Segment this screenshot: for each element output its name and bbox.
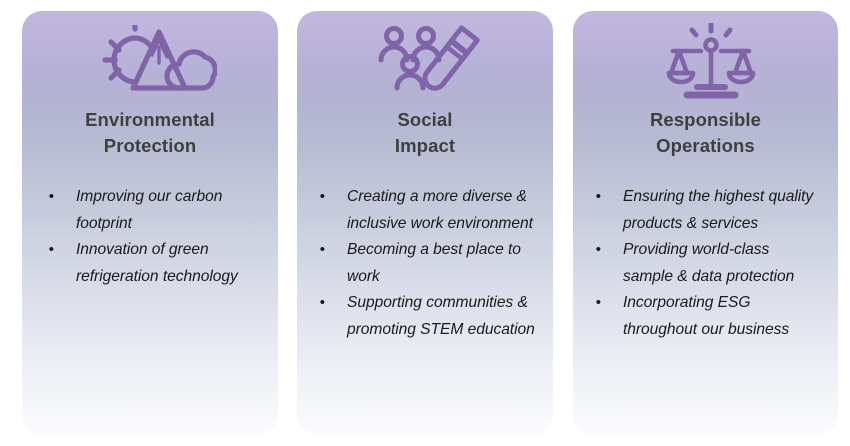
bullet-marker-icon: • [22, 184, 54, 210]
card-title-social-impact: Social Impact [311, 107, 539, 159]
bullet-marker-icon: • [22, 237, 54, 263]
list-item-text: Innovation of green refrigeration techno… [54, 237, 268, 290]
list-item: • Ensuring the highest quality products … [573, 184, 828, 237]
card-title-line: Protection [36, 133, 264, 159]
card-social-impact[interactable]: Social Impact • Creating a more diverse … [297, 11, 553, 435]
list-item-text: Incorporating ESG throughout our busines… [601, 290, 828, 343]
list-item: • Providing world-class sample & data pr… [573, 237, 828, 290]
list-item-text: Creating a more diverse & inclusive work… [325, 184, 543, 237]
bullet-marker-icon: • [297, 184, 325, 210]
card-responsible-operations[interactable]: Responsible Operations • Ensuring the hi… [573, 11, 838, 435]
bullet-marker-icon: • [297, 290, 325, 316]
list-item-text: Ensuring the highest quality products & … [601, 184, 828, 237]
bullet-list-responsible-operations: • Ensuring the highest quality products … [573, 184, 828, 343]
list-item: • Supporting communities & promoting STE… [297, 290, 543, 343]
balance-scale-icon [573, 23, 838, 103]
card-environmental-protection[interactable]: Environmental Protection • Improving our… [22, 11, 278, 435]
list-item-text: Becoming a best place to work [325, 237, 543, 290]
bullet-marker-icon: • [573, 237, 601, 263]
sun-mountain-cloud-icon [22, 23, 278, 103]
card-title-environmental-protection: Environmental Protection [36, 107, 264, 159]
people-test-tube-icon [297, 23, 553, 103]
list-item: • Improving our carbon footprint [22, 184, 268, 237]
list-item: • Incorporating ESG throughout our busin… [573, 290, 828, 343]
list-item-text: Supporting communities & promoting STEM … [325, 290, 543, 343]
card-title-line: Social [311, 107, 539, 133]
card-title-line: Operations [587, 133, 824, 159]
card-title-line: Impact [311, 133, 539, 159]
bullet-list-social-impact: • Creating a more diverse & inclusive wo… [297, 184, 543, 343]
card-title-line: Environmental [36, 107, 264, 133]
esg-pillars-board: Environmental Protection • Improving our… [0, 0, 850, 446]
list-item-text: Improving our carbon footprint [54, 184, 268, 237]
bullet-list-environmental-protection: • Improving our carbon footprint • Innov… [22, 184, 268, 290]
list-item: • Becoming a best place to work [297, 237, 543, 290]
bullet-marker-icon: • [573, 184, 601, 210]
card-title-line: Responsible [587, 107, 824, 133]
list-item: • Creating a more diverse & inclusive wo… [297, 184, 543, 237]
bullet-marker-icon: • [573, 290, 601, 316]
list-item: • Innovation of green refrigeration tech… [22, 237, 268, 290]
bullet-marker-icon: • [297, 237, 325, 263]
list-item-text: Providing world-class sample & data prot… [601, 237, 828, 290]
card-title-responsible-operations: Responsible Operations [587, 107, 824, 159]
